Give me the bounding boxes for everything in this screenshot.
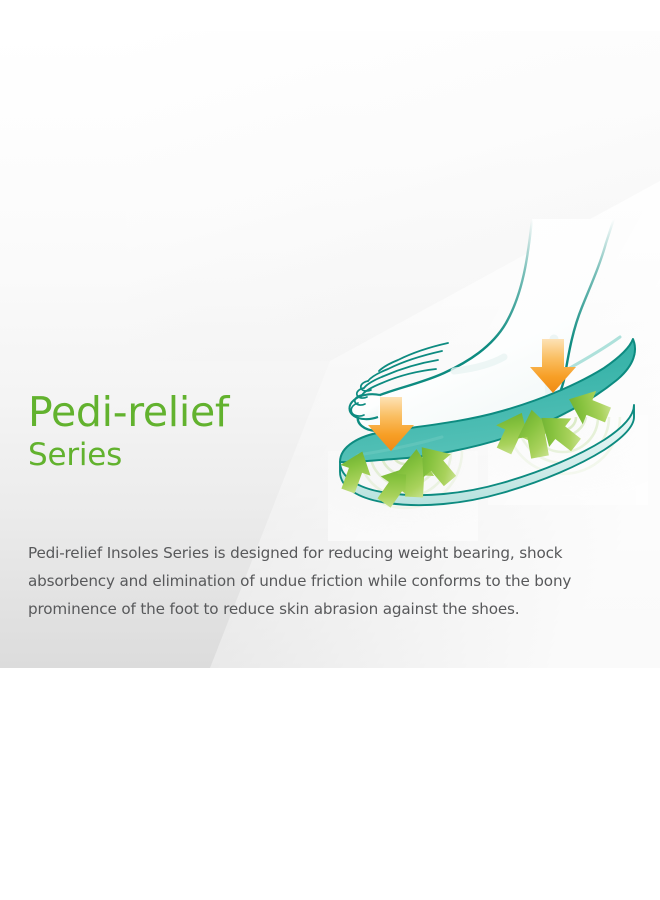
page-top-margin <box>0 0 660 31</box>
page-subtitle: Series <box>28 437 628 473</box>
page-title: Pedi-relief <box>28 389 628 435</box>
product-description: Pedi-relief Insoles Series is designed f… <box>28 539 624 623</box>
page-bottom-whitespace <box>0 668 660 900</box>
foot-insole-illustration <box>318 219 660 549</box>
product-banner: Pedi-relief Series Pedi-relief Insoles S… <box>0 31 660 668</box>
banner-heading-block: Pedi-relief Series <box>28 389 628 473</box>
product-banner-page: Pedi-relief Series Pedi-relief Insoles S… <box>0 0 660 900</box>
